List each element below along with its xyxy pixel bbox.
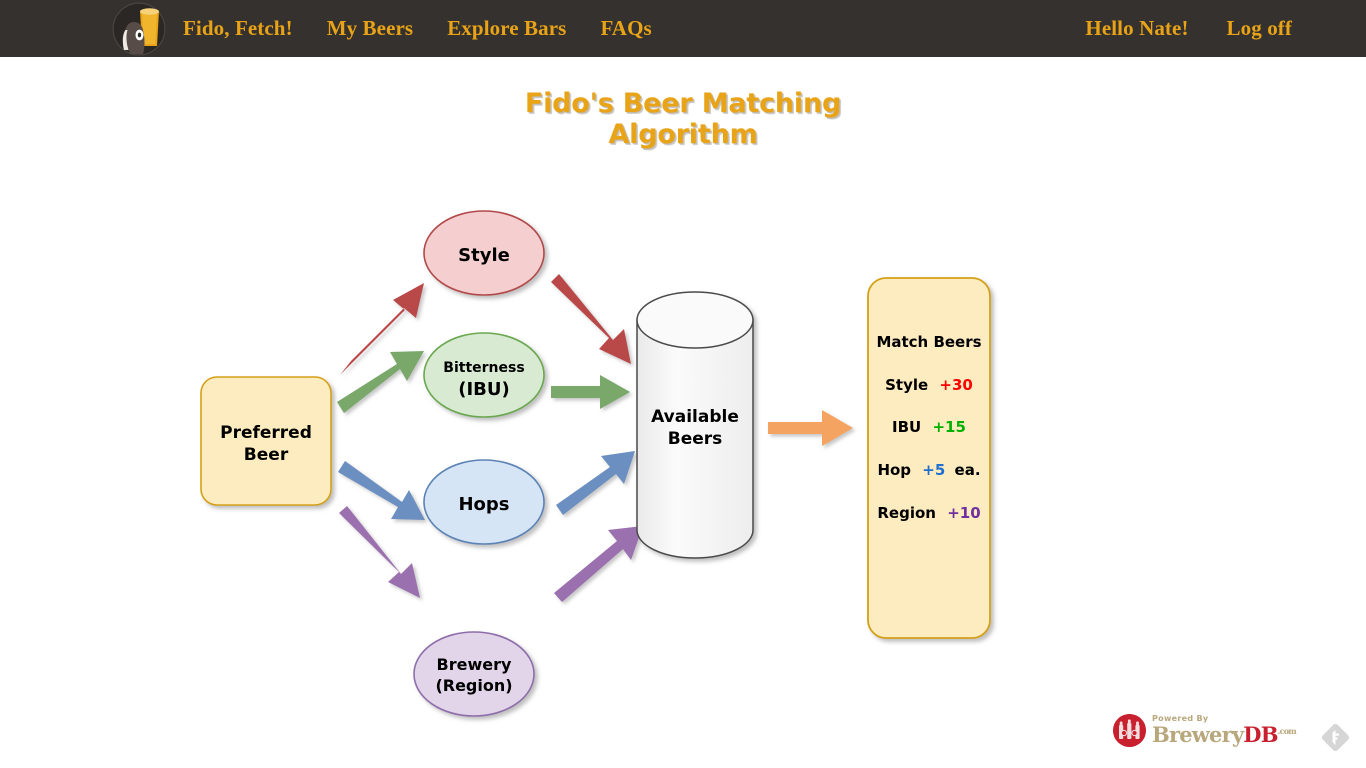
arrow-style-to-available (551, 274, 631, 364)
brewerydb-name-suffix: .com (1278, 726, 1296, 736)
node-style[interactable]: Style (424, 211, 544, 295)
match-panel-heading: Match Beers (876, 333, 981, 351)
arrow-hops-to-available (556, 451, 635, 515)
nav-link-explore-bars[interactable]: Explore Bars (447, 16, 566, 41)
brewerydb-name: BreweryDB.com (1152, 724, 1296, 745)
match-rule-region-value: +10 (947, 504, 980, 522)
nav-greeting-hello-user[interactable]: Hello Nate! (1085, 16, 1188, 41)
match-rule-region-label: Region (877, 504, 936, 522)
node-available-beers-database[interactable]: Available Beers (637, 292, 753, 558)
match-rule-style-label: Style (885, 376, 928, 394)
arrow-preferred-to-brewery (339, 506, 420, 598)
feedly-icon (1320, 722, 1351, 753)
node-preferred-beer-line1: Preferred (220, 423, 312, 443)
brewerydb-logo[interactable]: Powered By BreweryDB.com (1113, 711, 1275, 749)
diagram-canvas: Preferred Beer Style Bitterness (IBU) Ho… (0, 170, 1366, 750)
beer-matching-diagram: Preferred Beer Style Bitterness (IBU) Ho… (0, 170, 1366, 750)
node-available-beers-line2: Beers (668, 429, 723, 449)
node-brewery-region[interactable]: Brewery (Region) (414, 632, 534, 716)
nav-link-my-beers[interactable]: My Beers (327, 16, 414, 41)
nav-link-group: Fido, Fetch! My Beers Explore Bars FAQs (183, 0, 686, 57)
match-rule-hop-label: Hop (877, 461, 911, 479)
match-rule-region: Region +10 (877, 504, 980, 522)
node-style-label: Style (458, 245, 510, 266)
dog-beer-logo-icon (112, 2, 166, 56)
nav-link-fido-fetch[interactable]: Fido, Fetch! (183, 16, 293, 41)
match-rule-hop-suffix: ea. (955, 461, 981, 479)
node-bitterness-line1: Bitterness (443, 360, 524, 376)
match-rule-style-value: +30 (939, 376, 972, 394)
nav-link-log-off[interactable]: Log off (1227, 16, 1292, 41)
match-rule-hop-value: +5 (922, 461, 945, 479)
brewerydb-name-part1: Brewery (1152, 722, 1243, 747)
feedly-badge[interactable] (1320, 722, 1351, 753)
node-bitterness-line2: (IBU) (458, 379, 510, 400)
top-navbar: Fido, Fetch! My Beers Explore Bars FAQs … (0, 0, 1366, 57)
arrow-bitterness-to-available (551, 375, 630, 409)
brewerydb-mark-icon (1113, 714, 1146, 747)
brewerydb-name-part2: DB (1243, 722, 1277, 747)
node-hops-label: Hops (458, 494, 509, 515)
arrow-preferred-to-bitterness (337, 351, 424, 413)
brewerydb-wordmark: Powered By BreweryDB.com (1152, 715, 1296, 745)
page-title-line-2: Algorithm (0, 119, 1366, 150)
match-rule-ibu-value: +15 (932, 418, 965, 436)
node-brewery-line1: Brewery (437, 655, 512, 674)
node-available-beers-line1: Available (651, 407, 739, 427)
node-preferred-beer-line2: Beer (244, 445, 289, 465)
match-rule-ibu-label: IBU (892, 418, 921, 436)
match-rule-style: Style +30 (885, 376, 973, 394)
match-beers-panel[interactable]: Match Beers Style +30 IBU +15 Hop +5 ea.… (868, 278, 990, 638)
node-bitterness-ibu[interactable]: Bitterness (IBU) (424, 333, 544, 417)
node-brewery-line2: (Region) (435, 676, 512, 695)
match-rule-hop: Hop +5 ea. (877, 461, 980, 479)
node-hops[interactable]: Hops (424, 460, 544, 544)
nav-link-faqs[interactable]: FAQs (600, 16, 651, 41)
nav-user-group: Hello Nate! Log off (1047, 0, 1292, 57)
page-title-line-1: Fido's Beer Matching (525, 88, 841, 119)
page-title: Fido's Beer Matching Algorithm (0, 88, 1366, 150)
arrow-brewery-to-available (554, 526, 643, 602)
arrow-available-to-match (768, 410, 853, 446)
node-preferred-beer[interactable]: Preferred Beer (201, 377, 331, 505)
brand-logo[interactable] (112, 2, 166, 56)
